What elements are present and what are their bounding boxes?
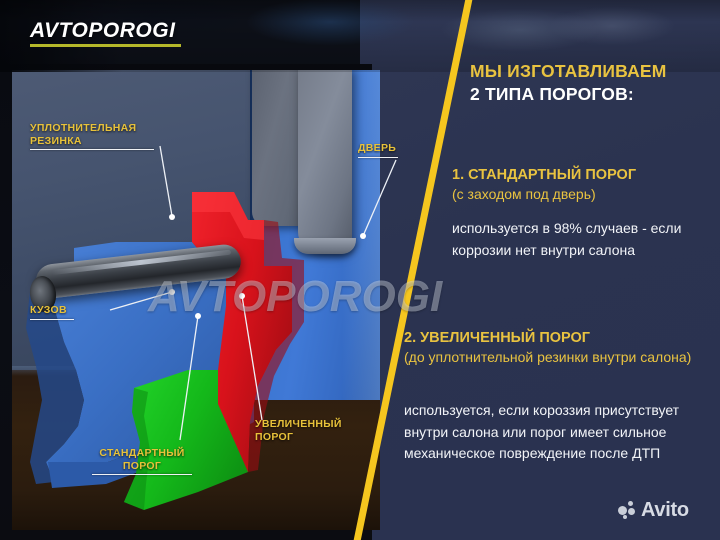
- callout-seal-rubber-rule: [30, 149, 154, 150]
- avito-wordmark: Avito: [641, 500, 689, 520]
- callout-door-rule: [358, 157, 398, 158]
- callout-body-rule: [30, 319, 74, 320]
- callout-seal-rubber-line2: РЕЗИНКА: [30, 135, 158, 148]
- avito-dots-icon: [618, 501, 637, 519]
- heading-line-1: МЫ ИЗГОТАВЛИВАЕМ: [470, 60, 708, 83]
- callout-standard-sill-rule: [92, 474, 192, 475]
- brand-logo-underline: [30, 44, 181, 47]
- callout-extended-sill: УВЕЛИЧЕННЫЙ ПОРОГ: [255, 418, 359, 443]
- avito-logo: Avito: [618, 500, 689, 520]
- callout-seal-rubber-line1: УПЛОТНИТЕЛЬНАЯ: [30, 122, 158, 135]
- section-2-title: 2. УВЕЛИЧЕННЫЙ ПОРОГ: [404, 329, 710, 348]
- callout-extended-sill-line2: ПОРОГ: [255, 431, 359, 444]
- callout-standard-sill: СТАНДАРТНЫЙ ПОРОГ: [90, 447, 194, 475]
- callout-door-line1: ДВЕРЬ: [358, 142, 400, 155]
- callout-seal-rubber: УПЛОТНИТЕЛЬНАЯ РЕЗИНКА: [30, 122, 158, 150]
- callout-standard-sill-line1: СТАНДАРТНЫЙ: [90, 447, 194, 460]
- callout-body: КУЗОВ: [30, 304, 76, 320]
- callout-door: ДВЕРЬ: [358, 142, 400, 158]
- callout-body-line1: КУЗОВ: [30, 304, 76, 317]
- section-2-subtitle: (до уплотнительной резинки внутри салона…: [404, 348, 710, 367]
- section-2-body: используется, если короззия присутствует…: [404, 400, 704, 465]
- callout-standard-sill-line2: ПОРОГ: [90, 460, 194, 473]
- heading-line-2: 2 ТИПА ПОРОГОВ:: [470, 83, 708, 106]
- brand-logo[interactable]: AVTOPOROGI: [30, 20, 181, 47]
- brand-logo-text: AVTOPOROGI: [30, 20, 181, 41]
- section-1-subtitle: (с заходом под дверь): [452, 185, 710, 204]
- callout-extended-sill-line1: УВЕЛИЧЕННЫЙ: [255, 418, 359, 431]
- section-1-body: используется в 98% случаев - если корроз…: [452, 218, 704, 261]
- poster-canvas: AVTOPOROGI УПЛОТНИТЕЛЬНАЯ РЕЗИНКА ДВЕРЬ …: [0, 0, 720, 540]
- section-1-title: 1. СТАНДАРТНЫЙ ПОРОГ: [452, 166, 710, 185]
